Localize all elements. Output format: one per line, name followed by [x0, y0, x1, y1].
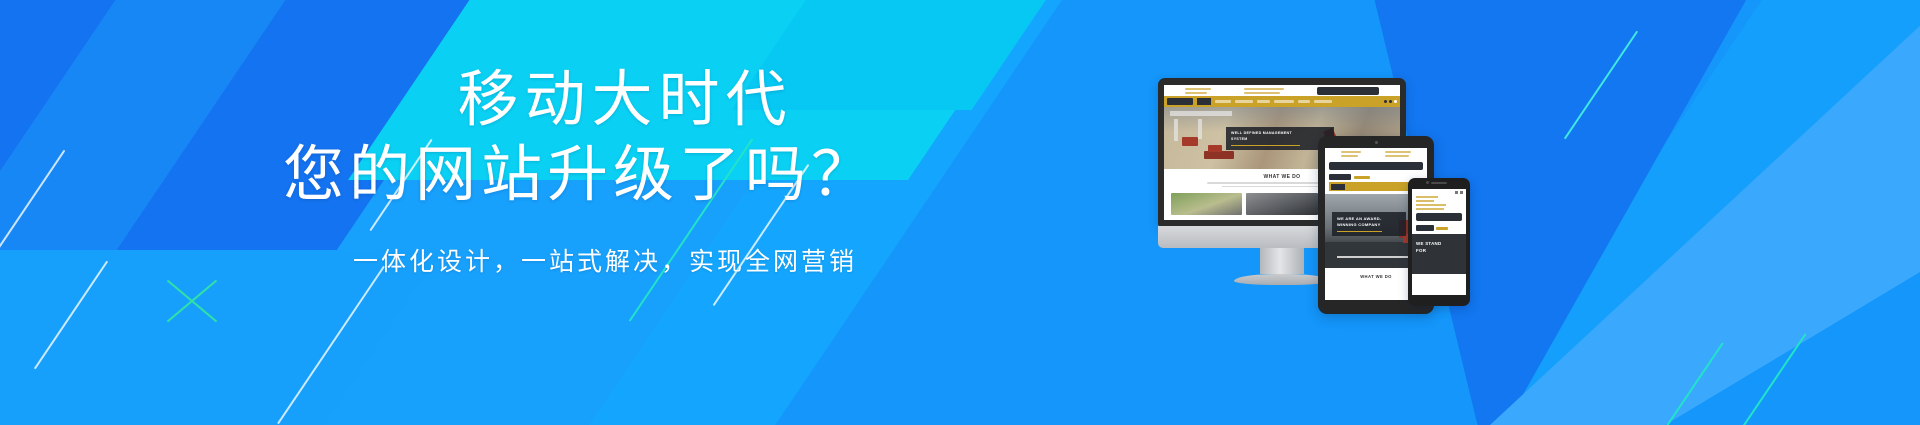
phone-hero-image: WE STAND FOR	[1412, 234, 1466, 274]
phone-menu-icon	[1455, 191, 1458, 194]
monitor-thumbnail-2	[1246, 193, 1317, 215]
monitor-stand-neck	[1260, 248, 1304, 274]
monitor-hero-caption-l2: SYSTEM	[1231, 137, 1329, 143]
phone-contact-block	[1412, 196, 1466, 210]
tablet-hero-caption-l2: WINNING COMPANY	[1337, 222, 1401, 228]
monitor-stand-base	[1234, 274, 1330, 285]
tablet-site-logo	[1329, 174, 1351, 180]
tablet-camera-icon	[1375, 141, 1378, 144]
tablet-site-topbar	[1325, 148, 1427, 160]
monitor-thumbnail-1	[1171, 193, 1242, 215]
phone-logo-row	[1412, 224, 1466, 234]
decor-x-icon	[160, 270, 224, 334]
monitor-site-topbar	[1164, 85, 1400, 96]
phone-hero-caption-l1: WE STAND	[1416, 241, 1458, 248]
phone-hero-caption-l2: FOR	[1416, 248, 1458, 255]
monitor-site-navbar	[1164, 96, 1400, 107]
phone-toolbar	[1412, 189, 1466, 196]
headline-line-2: 您的网站升级了吗？	[0, 136, 1150, 212]
phone-site-logo	[1416, 225, 1434, 231]
marketing-banner: 移动大时代 您的网站升级了吗？ 一体化设计，一站式解决，实现全网营销	[0, 0, 1920, 425]
tablet-hero-caption: WE ARE AN AWARD- WINNING COMPANY	[1332, 212, 1406, 236]
phone-quote-button	[1416, 213, 1462, 221]
monitor-quote-button	[1317, 87, 1379, 95]
phone-speaker-icon	[1431, 182, 1447, 184]
monitor-site-logo	[1167, 98, 1193, 105]
banner-copy: 移动大时代 您的网站升级了吗？ 一体化设计，一站式解决，实现全网营销	[0, 64, 1150, 278]
phone-search-icon	[1460, 191, 1463, 194]
headline-line-1: 移动大时代	[0, 64, 1150, 136]
phone-camera-icon	[1426, 181, 1429, 184]
phone-quote-button-row	[1412, 210, 1466, 224]
phone-screen: WE STAND FOR	[1412, 189, 1466, 295]
smartphone-device: WE STAND FOR	[1408, 178, 1470, 306]
device-mockup-cluster: WELL DEFINED MANAGEMENT SYSTEM WHAT WE D…	[1158, 78, 1578, 358]
banner-subline: 一体化设计，一站式解决，实现全网营销	[0, 242, 1150, 278]
tablet-quote-button	[1329, 162, 1423, 170]
tablet-quote-button-row	[1325, 160, 1427, 172]
phone-hero-caption: WE STAND FOR	[1416, 241, 1458, 255]
